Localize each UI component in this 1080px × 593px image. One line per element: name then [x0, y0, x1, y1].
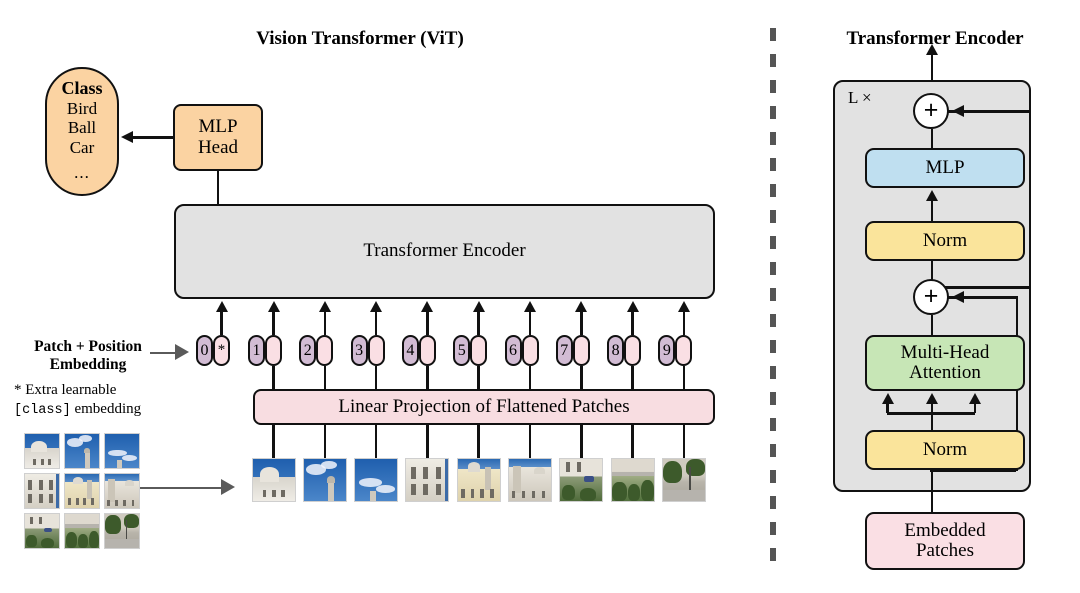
projection-to-token-line-7	[580, 366, 583, 389]
patch-to-projection-line-2	[324, 425, 327, 458]
patch-to-projection-line-8	[631, 425, 634, 458]
patch-to-projection-line-5	[477, 425, 480, 458]
token-to-encoder-line-2	[324, 311, 327, 335]
patch-embedding-token-4	[419, 335, 436, 366]
mlp-head-label-line2: Head	[198, 138, 238, 158]
projection-to-token-line-2	[324, 366, 327, 389]
attention-label-line1: Multi-Head	[901, 343, 990, 363]
embedded-patches-box: Embedded Patches	[865, 512, 1025, 570]
norm-top-box: Norm	[865, 221, 1025, 261]
token-to-encoder-line-1	[272, 311, 275, 335]
qkv-branch-center-stem	[931, 403, 934, 430]
projection-to-token-line-5	[477, 366, 480, 389]
projection-to-token-line-3	[375, 366, 378, 389]
source-image-patch-9	[104, 513, 140, 549]
embedded-patches-label-line2: Patches	[916, 541, 974, 561]
attn-residual-arrowhead	[952, 291, 964, 303]
residual-add-top-symbol: +	[924, 98, 939, 123]
flattened-patch-8	[611, 458, 655, 502]
multi-head-attention-box: Multi-Head Attention	[865, 335, 1025, 391]
class-token-code: [class]	[14, 403, 71, 418]
norm-bottom-label: Norm	[923, 440, 967, 460]
linear-projection-label: Linear Projection of Flattened Patches	[338, 397, 629, 417]
token-to-encoder-arrowhead-5	[473, 301, 485, 312]
source-image-patch-6	[104, 473, 140, 509]
qkv-arrowhead-right	[969, 393, 981, 404]
position-embedding-token-0: 0	[196, 335, 213, 366]
projection-to-token-line-4	[426, 366, 429, 389]
class-item-ball: Ball	[68, 118, 96, 137]
position-embedding-token-5: 5	[453, 335, 470, 366]
norm-bottom-box: Norm	[865, 430, 1025, 470]
patch-embedding-token-5	[470, 335, 487, 366]
patch-embedding-token-6	[522, 335, 539, 366]
source-image-patch-4	[24, 473, 60, 509]
patch-to-projection-line-6	[529, 425, 532, 458]
position-embedding-token-1: 1	[248, 335, 265, 366]
flattened-patch-4	[405, 458, 449, 502]
patch-embedding-token-1	[265, 335, 282, 366]
attention-label-line2: Attention	[909, 363, 981, 383]
embedded-patches-label-line1: Embedded	[904, 521, 985, 541]
extra-learnable-line1: * Extra learnable	[14, 381, 174, 400]
patch-position-label-line2: Embedding	[8, 356, 168, 374]
token-to-encoder-line-5	[477, 311, 480, 335]
norm-to-mlp-arrowhead	[926, 190, 938, 201]
source-image-patch-8	[64, 513, 100, 549]
patch-to-projection-line-3	[375, 425, 378, 458]
qkv-arrowhead-center	[926, 393, 938, 404]
class-output-capsule: Class Bird Ball Car ...	[45, 67, 119, 196]
source-image-patch-5	[64, 473, 100, 509]
residual-add-top: +	[913, 93, 949, 129]
transformer-encoder-label: Transformer Encoder	[363, 241, 525, 261]
patch-position-embedding-label: Patch + Position Embedding	[8, 338, 168, 373]
mlp-label: MLP	[925, 158, 964, 178]
projection-to-token-line-6	[529, 366, 532, 389]
source-image-patch-1	[24, 433, 60, 469]
projection-to-token-line-1	[272, 366, 275, 389]
patch-position-label-line1: Patch + Position	[8, 338, 168, 356]
token-to-encoder-arrowhead-8	[627, 301, 639, 312]
token-to-encoder-arrowhead-0	[216, 301, 228, 312]
patch-position-pointer-arrowhead	[175, 344, 189, 360]
patch-to-projection-line-4	[426, 425, 429, 458]
source-image-patch-7	[24, 513, 60, 549]
token-to-encoder-line-7	[580, 311, 583, 335]
norm-to-mlp-line	[931, 200, 934, 222]
mlp-head-box: MLP Head	[173, 104, 263, 171]
patch-embedding-token-2	[316, 335, 333, 366]
token-to-encoder-arrowhead-1	[268, 301, 280, 312]
source-to-sequence-arrowhead	[221, 479, 235, 495]
token-to-encoder-arrowhead-9	[678, 301, 690, 312]
patch-embedding-token-7	[573, 335, 590, 366]
source-image-patch-2	[64, 433, 100, 469]
position-embedding-token-8: 8	[607, 335, 624, 366]
patch-embedding-token-9	[675, 335, 692, 366]
mlp-box: MLP	[865, 148, 1025, 188]
flattened-patch-5	[457, 458, 501, 502]
class-title: Class	[61, 79, 102, 98]
linear-projection-box: Linear Projection of Flattened Patches	[253, 389, 715, 425]
patch-embedding-token-3	[368, 335, 385, 366]
position-embedding-token-9: 9	[658, 335, 675, 366]
token-to-encoder-line-3	[375, 311, 378, 335]
patch-to-projection-line-9	[683, 425, 686, 458]
mlphead-to-encoder-line	[217, 171, 220, 205]
flattened-patch-3	[354, 458, 398, 502]
mlphead-to-class-line	[133, 136, 173, 139]
flattened-patch-1	[252, 458, 296, 502]
projection-to-token-line-9	[683, 366, 686, 389]
panel-divider	[770, 28, 776, 570]
attention-to-add-line	[931, 315, 934, 335]
encoder-output-arrowhead	[926, 44, 938, 55]
class-ellipsis: ...	[74, 164, 90, 182]
position-embedding-token-3: 3	[351, 335, 368, 366]
patch-to-projection-line-7	[580, 425, 583, 458]
token-to-encoder-arrowhead-2	[319, 301, 331, 312]
qkv-branch-left-stem	[886, 403, 889, 413]
extra-learnable-note: * Extra learnable [class] embedding	[14, 381, 174, 420]
flattened-patch-7	[559, 458, 603, 502]
flattened-patch-2	[303, 458, 347, 502]
mlp-residual-vertical	[1029, 110, 1032, 288]
residual-add-bottom-symbol: +	[924, 284, 939, 309]
position-embedding-token-4: 4	[402, 335, 419, 366]
norm-top-label: Norm	[923, 231, 967, 251]
mlp-head-label-line1: MLP	[198, 117, 237, 137]
token-to-encoder-line-9	[683, 311, 686, 335]
layer-repeat-label: L ×	[848, 88, 872, 108]
position-embedding-token-7: 7	[556, 335, 573, 366]
token-to-encoder-line-4	[426, 311, 429, 335]
patch-position-pointer-line	[150, 352, 176, 354]
qkv-branch-right-stem	[974, 403, 977, 413]
token-to-encoder-arrowhead-4	[421, 301, 433, 312]
patch-to-projection-line-1	[272, 425, 275, 458]
token-to-encoder-line-6	[529, 311, 532, 335]
position-embedding-token-6: 6	[505, 335, 522, 366]
embedded-to-norm-line	[931, 470, 934, 512]
token-to-encoder-line-8	[631, 311, 634, 335]
left-panel-title: Vision Transformer (ViT)	[60, 28, 660, 50]
class-item-bird: Bird	[67, 99, 97, 118]
source-to-sequence-line	[140, 487, 222, 489]
flattened-patch-9	[662, 458, 706, 502]
mlp-to-add-line	[931, 129, 934, 148]
mlp-residual-arrowhead	[952, 105, 964, 117]
token-to-encoder-arrowhead-6	[524, 301, 536, 312]
flattened-patch-6	[508, 458, 552, 502]
qkv-arrowhead-left	[882, 393, 894, 404]
class-item-car: Car	[70, 138, 95, 157]
source-image-patch-3	[104, 433, 140, 469]
vit-architecture-figure: Vision Transformer (ViT) Transformer Enc…	[0, 0, 1080, 593]
mlphead-to-class-arrowhead	[121, 131, 133, 143]
token-to-encoder-arrowhead-7	[575, 301, 587, 312]
position-embedding-token-2: 2	[299, 335, 316, 366]
patch-embedding-token-8	[624, 335, 641, 366]
token-to-encoder-arrowhead-3	[370, 301, 382, 312]
class-embedding-token: *	[213, 335, 230, 366]
transformer-encoder-box: Transformer Encoder	[174, 204, 715, 299]
residual-add-bottom: +	[913, 279, 949, 315]
extra-learnable-line2-tail: embedding	[71, 401, 141, 417]
projection-to-token-line-8	[631, 366, 634, 389]
token-to-encoder-line-0	[220, 311, 223, 335]
